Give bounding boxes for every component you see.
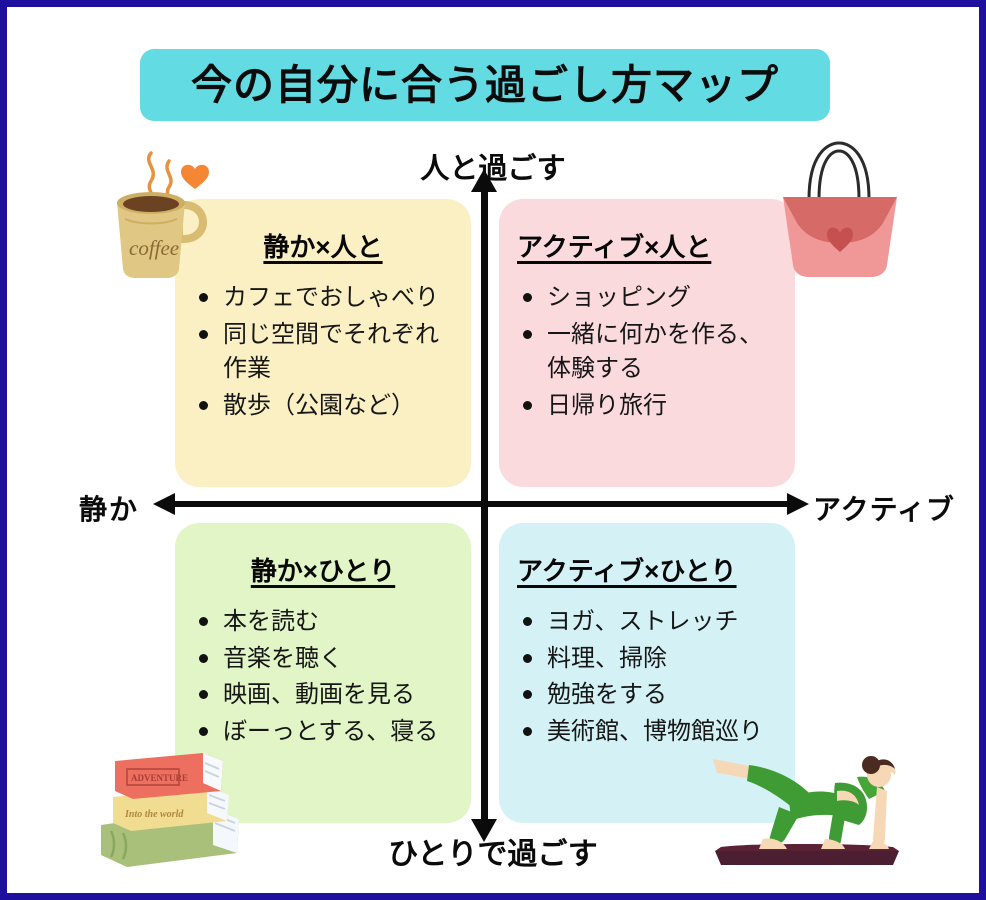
list-item: 勉強をする <box>517 679 777 711</box>
list-item-label: 美術館、博物館巡り <box>547 718 763 745</box>
list-item: ヨガ、ストレッチ <box>517 606 777 638</box>
list-item: 音楽を聴く <box>193 643 453 675</box>
quadrant-list-active-alone: ヨガ、ストレッチ 料理、掃除 勉強をする 美術館、博物館巡り <box>517 606 777 748</box>
list-item-label: 一緒に何かを作る、 <box>547 321 763 348</box>
list-item-label: ぼーっとする、寝る <box>223 718 438 745</box>
book-stack-illustration: Into the world ADVENTURE <box>87 735 252 875</box>
list-item-label: 勉強をする <box>547 681 667 708</box>
yoga-person-illustration <box>707 747 907 872</box>
list-item: 映画、動画を見る <box>193 679 453 711</box>
arrow-left-icon <box>153 493 175 515</box>
list-item: 散歩（公園など） <box>193 390 453 422</box>
quadrant-heading-active-with-people: アクティブ×人と <box>517 227 777 264</box>
list-item-label: 音楽を聴く <box>223 645 343 672</box>
bullet-icon <box>199 654 208 663</box>
bullet-icon <box>523 401 532 410</box>
list-item-label: ショッピング <box>547 284 691 311</box>
quadrant-heading-quiet-with-people: 静か×人と <box>193 227 453 264</box>
bullet-icon <box>523 654 532 663</box>
list-item-label: カフェでおしゃべり <box>223 284 439 311</box>
quadrant-list-active-with-people: ショッピング 一緒に何かを作る、 体験する 日帰り旅行 <box>517 282 777 422</box>
list-item-label: 料理、掃除 <box>547 645 667 672</box>
bullet-icon <box>199 690 208 699</box>
list-item-label: 散歩（公園など） <box>223 392 415 419</box>
tote-bag-illustration <box>779 137 901 285</box>
list-item: 一緒に何かを作る、 <box>517 319 777 351</box>
bullet-icon <box>523 727 532 736</box>
list-item: 日帰り旅行 <box>517 390 777 422</box>
bullet-icon <box>523 330 532 339</box>
list-item-label-cont: 体験する <box>547 355 643 382</box>
quadrant-list-quiet-alone: 本を読む 音楽を聴く 映画、動画を見る ぼーっとする、寝る <box>193 606 453 748</box>
list-item-label: 本を読む <box>223 608 319 635</box>
bullet-icon <box>199 401 208 410</box>
quadrant-heading-active-alone: アクティブ×ひとり <box>517 551 777 588</box>
list-item-label: 同じ空間でそれぞれ <box>223 321 439 348</box>
axis-label-left: 静か <box>79 488 139 528</box>
quadrant-quiet-with-people: 静か×人と カフェでおしゃべり 同じ空間でそれぞれ 作業 散歩（公園など） <box>175 199 471 487</box>
bullet-icon <box>523 293 532 302</box>
list-item: 同じ空間でそれぞれ <box>193 319 453 351</box>
arrow-up-icon <box>471 169 497 192</box>
list-item: 美術館、博物館巡り <box>517 716 777 748</box>
coffee-cup-illustration: coffee <box>99 147 219 282</box>
quadrant-list-quiet-with-people: カフェでおしゃべり 同じ空間でそれぞれ 作業 散歩（公園など） <box>193 282 453 422</box>
list-item: カフェでおしゃべり <box>193 282 453 314</box>
list-item-label: 日帰り旅行 <box>547 392 667 419</box>
list-item-continuation: 作業 <box>193 353 453 385</box>
list-item-label: 映画、動画を見る <box>223 681 415 708</box>
arrow-right-icon <box>787 493 809 515</box>
list-item: ショッピング <box>517 282 777 314</box>
svg-text:coffee: coffee <box>129 236 179 260</box>
list-item: 本を読む <box>193 606 453 638</box>
page-title: 今の自分に合う過ごし方マップ <box>191 65 779 106</box>
quadrant-active-with-people: アクティブ×人と ショッピング 一緒に何かを作る、 体験する 日帰り旅行 <box>499 199 795 487</box>
title-banner: 今の自分に合う過ごし方マップ <box>140 49 830 121</box>
bullet-icon <box>199 330 208 339</box>
horizontal-axis-line <box>167 501 797 507</box>
bullet-icon <box>523 690 532 699</box>
bullet-icon <box>199 293 208 302</box>
bullet-icon <box>523 617 532 626</box>
bullet-icon <box>199 617 208 626</box>
vertical-axis-line <box>481 185 488 830</box>
list-item: 料理、掃除 <box>517 643 777 675</box>
poster-frame: 今の自分に合う過ごし方マップ 人と過ごす ひとりで過ごす 静か アクティブ 静か… <box>0 0 986 900</box>
list-item-continuation: 体験する <box>517 353 777 385</box>
list-item-label: ヨガ、ストレッチ <box>547 608 739 635</box>
arrow-down-icon <box>471 819 497 842</box>
svg-text:ADVENTURE: ADVENTURE <box>131 773 188 783</box>
quadrant-heading-quiet-alone: 静か×ひとり <box>193 551 453 588</box>
svg-text:Into the world: Into the world <box>124 809 184 820</box>
axis-label-right: アクティブ <box>813 488 955 528</box>
list-item-label-cont: 作業 <box>223 355 271 382</box>
